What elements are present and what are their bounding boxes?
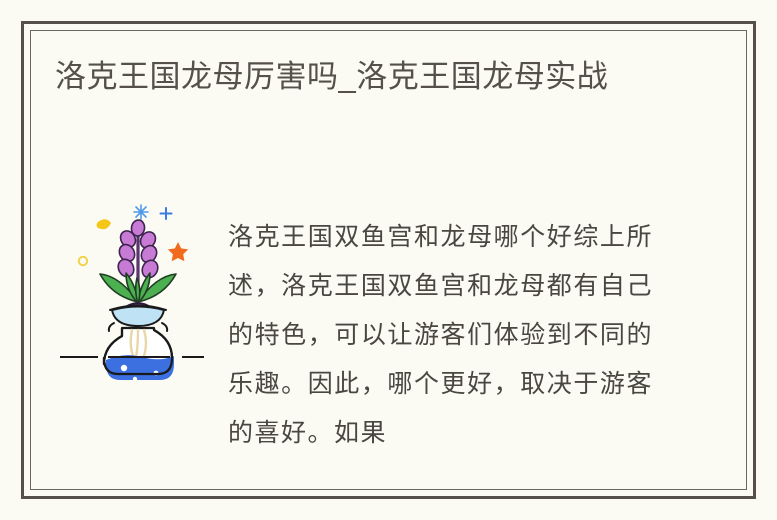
article-body-text: 洛克王国双鱼宫和龙母哪个好综上所述，洛克王国双鱼宫和龙母都有自己的特色，可以让游…: [228, 212, 653, 457]
ring-sparkle: [79, 257, 87, 265]
snowflake-sparkle: [134, 205, 148, 219]
illustration-potted-plant: [52, 190, 232, 380]
page-title: 洛克王国龙母厉害吗_洛克王国龙母实战: [55, 54, 695, 99]
plus-sparkle: [161, 208, 172, 219]
article-card-page: 洛克王国龙母厉害吗_洛克王国龙母实战: [0, 0, 777, 520]
moon-sparkle: [97, 219, 112, 229]
star-sparkle: [168, 242, 188, 261]
